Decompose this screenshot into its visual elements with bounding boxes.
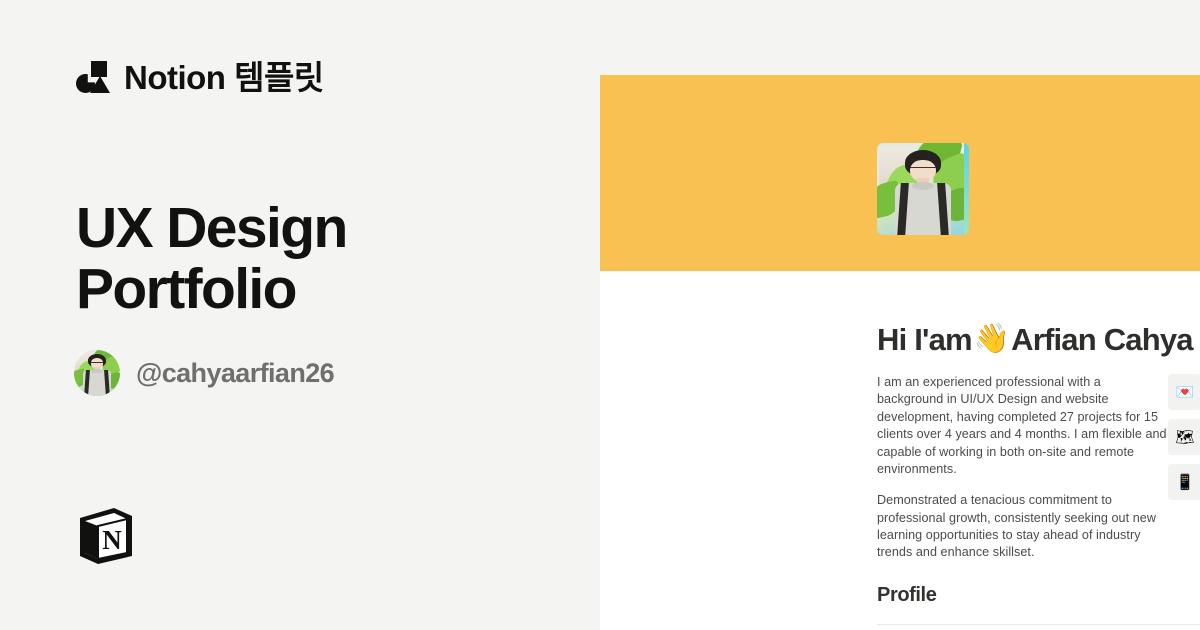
brand-title: Notion 템플릿 <box>124 61 324 94</box>
greeting-prefix: Hi I'am <box>877 321 972 358</box>
icon-rail: 💌 🗺 📱 <box>1168 374 1200 500</box>
left-panel: Notion 템플릿 UX Design Portfolio @cahyaarf… <box>0 0 600 630</box>
profile-bio: I am an experienced professional with a … <box>877 374 1168 562</box>
love-letter-icon[interactable]: 💌 <box>1168 374 1200 410</box>
brand-row: Notion 템플릿 <box>76 60 324 94</box>
notion-cube-logo-icon: N <box>76 505 136 567</box>
avatar <box>74 350 120 396</box>
bio-paragraph: Demonstrated a tenacious commitment to p… <box>877 492 1168 562</box>
mobile-phone-icon[interactable]: 📱 <box>1168 464 1200 500</box>
page-title: UX Design Portfolio <box>76 198 347 320</box>
poster-canvas: Notion 템플릿 UX Design Portfolio @cahyaarf… <box>0 0 1200 630</box>
author-handle: @cahyaarfian26 <box>136 358 334 389</box>
profile-name: Arfian Cahya <box>1011 321 1193 358</box>
author-row[interactable]: @cahyaarfian26 <box>74 350 334 396</box>
bio-paragraph: I am an experienced professional with a … <box>877 374 1168 478</box>
profile-section-heading: Profile <box>877 584 936 607</box>
profile-photo-image <box>877 143 969 235</box>
profile-greeting-heading: Hi I'am 👋 Arfian Cahya <box>877 321 1193 358</box>
world-map-icon[interactable]: 🗺 <box>1168 419 1200 455</box>
svg-text:N: N <box>102 525 122 555</box>
notion-template-shapes-icon <box>76 60 110 94</box>
waving-hand-icon: 👋 <box>974 325 1009 354</box>
section-divider <box>877 624 1200 625</box>
right-panel: Hi I'am 👋 Arfian Cahya I am an experienc… <box>600 0 1200 630</box>
